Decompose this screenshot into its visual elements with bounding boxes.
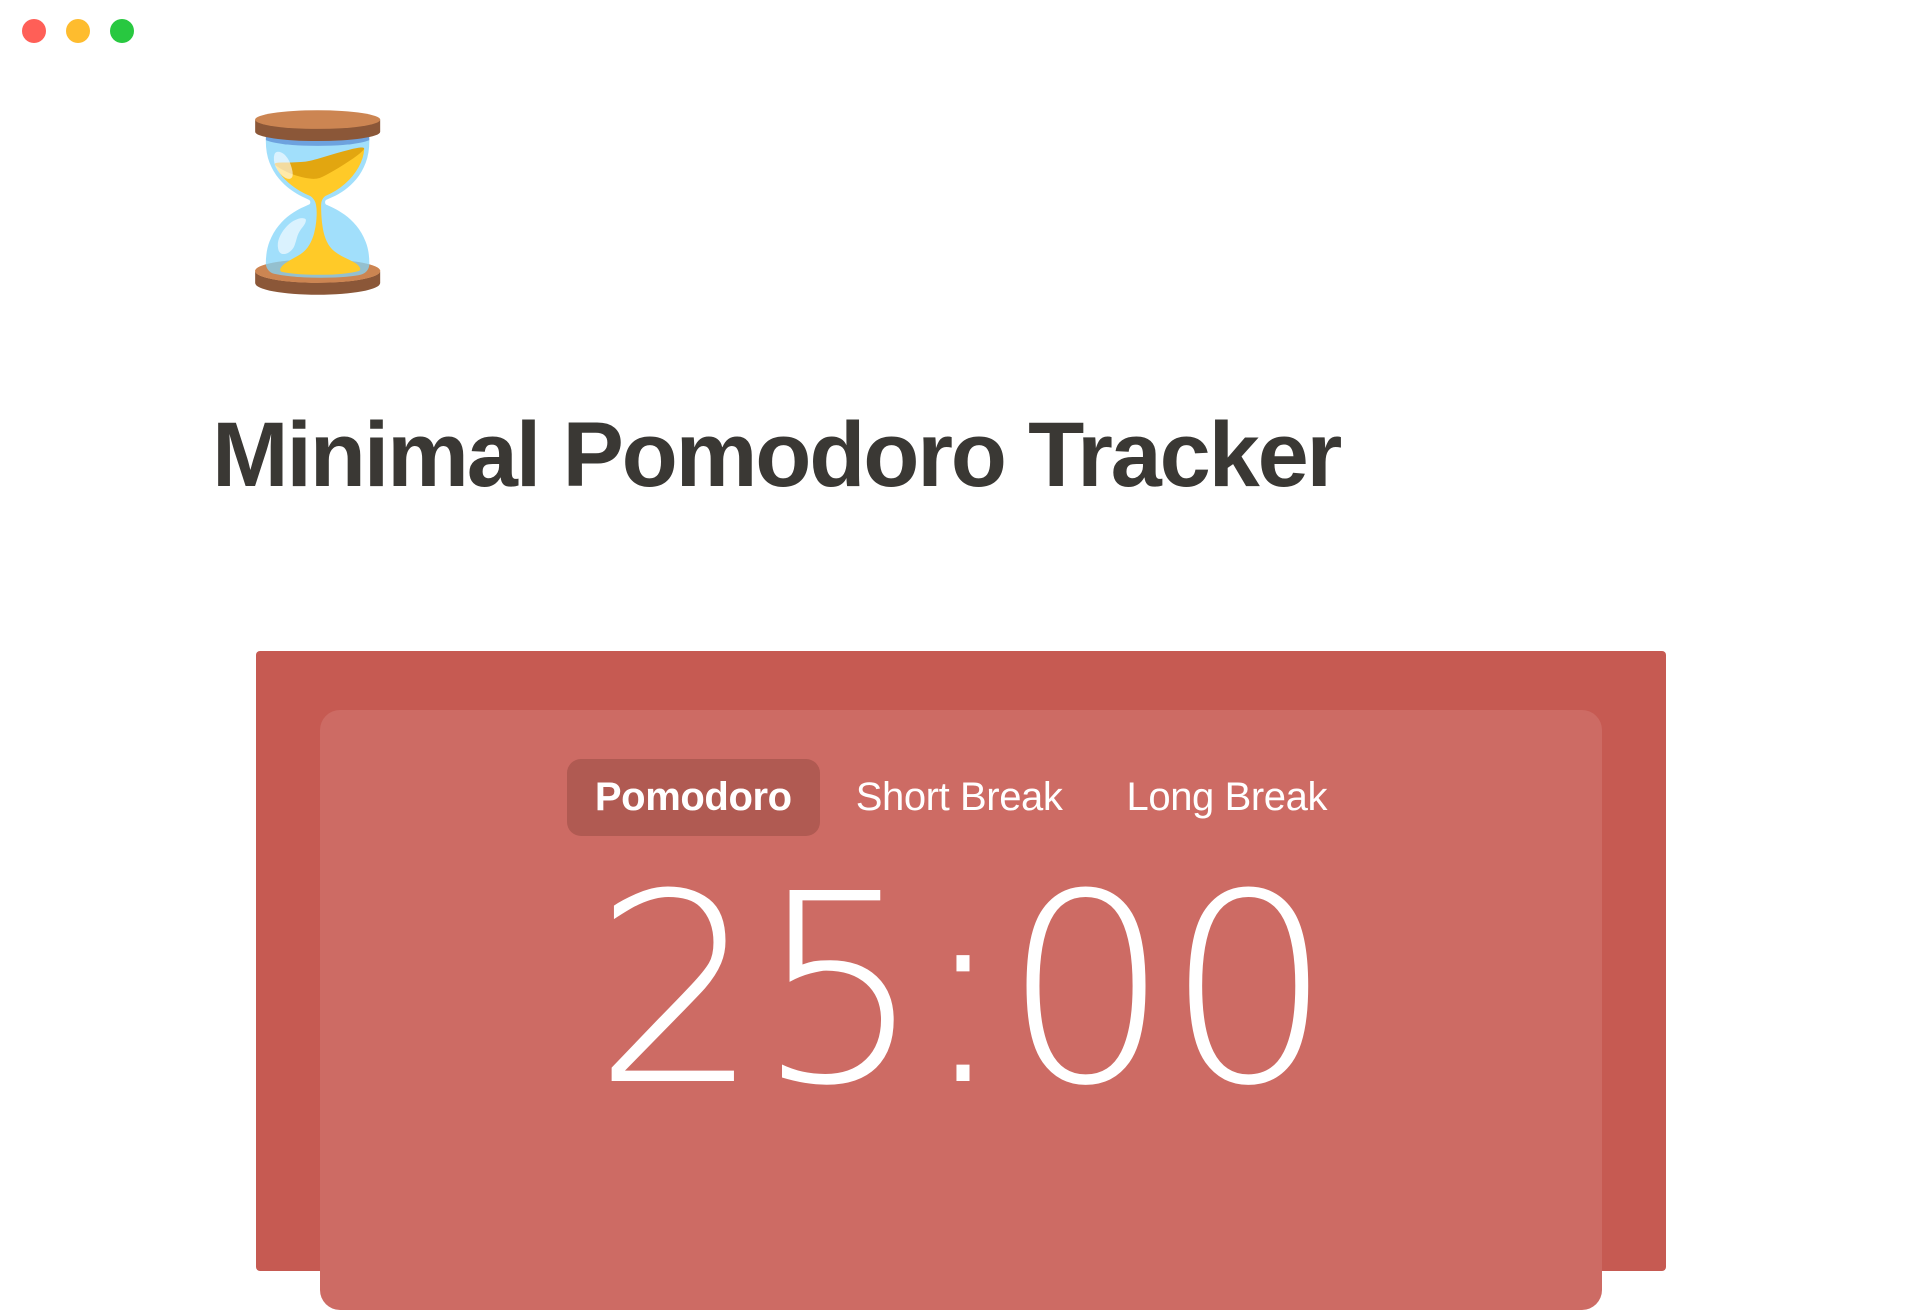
timer-panel: Pomodoro Short Break Long Break 25:00	[320, 710, 1602, 1310]
maximize-window-icon[interactable]	[110, 19, 134, 43]
timer-card: Pomodoro Short Break Long Break 25:00	[256, 651, 1666, 1271]
window-title-bar	[0, 0, 1920, 62]
mode-tab-group: Pomodoro Short Break Long Break	[320, 759, 1602, 836]
app-root: ⏳ Minimal Pomodoro Tracker Pomodoro Shor…	[0, 0, 1920, 1200]
traffic-light-group	[22, 19, 134, 43]
page-title: Minimal Pomodoro Tracker	[212, 404, 1712, 507]
timer-display: 25:00	[320, 860, 1602, 1122]
hourglass-icon: ⏳	[213, 118, 422, 286]
tab-long-break[interactable]: Long Break	[1099, 759, 1356, 836]
tab-short-break[interactable]: Short Break	[828, 759, 1091, 836]
minimize-window-icon[interactable]	[66, 19, 90, 43]
close-window-icon[interactable]	[22, 19, 46, 43]
tab-pomodoro[interactable]: Pomodoro	[567, 759, 820, 836]
